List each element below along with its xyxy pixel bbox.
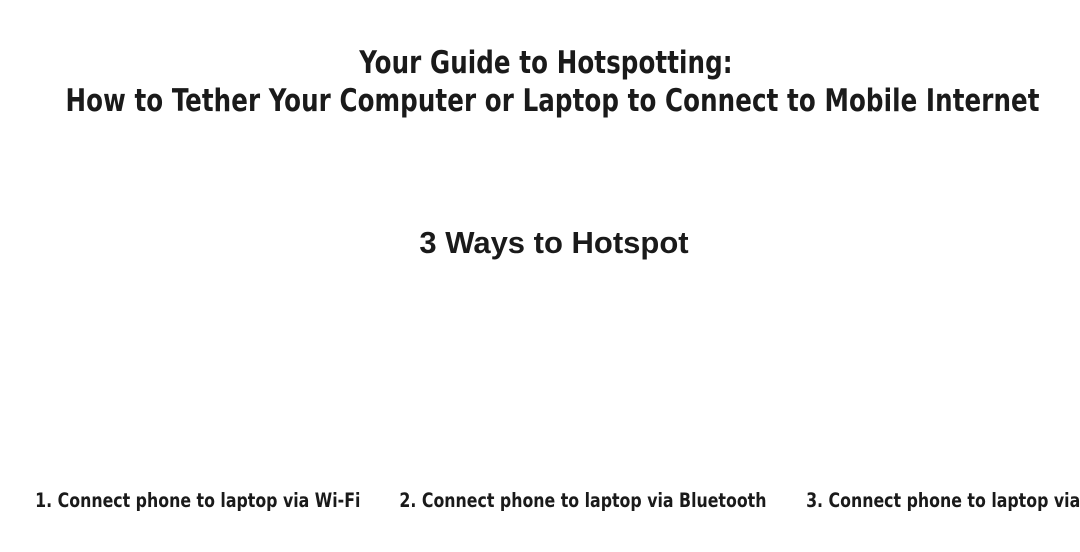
illustration-slot-2: [360, 280, 720, 476]
title-line-2: How to Tether Your Computer or Laptop to…: [66, 82, 1027, 120]
title-line-1: Your Guide to Hotspotting:: [66, 44, 1027, 82]
illustration-slot-3: [720, 280, 1080, 476]
caption-row: 1. Connect phone to laptop via Wi-Fi 2. …: [0, 486, 1080, 516]
infographic-page: Your Guide to Hotspotting: How to Tether…: [0, 0, 1080, 552]
method-caption-3: 3. Connect phone to laptop via cable: [806, 486, 1080, 516]
method-caption-2: 2. Connect phone to laptop via Bluetooth: [400, 486, 767, 516]
illustration-band: [0, 280, 1080, 476]
section-heading: 3 Ways to Hotspot: [0, 225, 1080, 261]
method-caption-1: 1. Connect phone to laptop via Wi-Fi: [19, 486, 360, 516]
illustration-slot-1: [0, 280, 360, 476]
page-title: Your Guide to Hotspotting: How to Tether…: [0, 44, 1080, 120]
